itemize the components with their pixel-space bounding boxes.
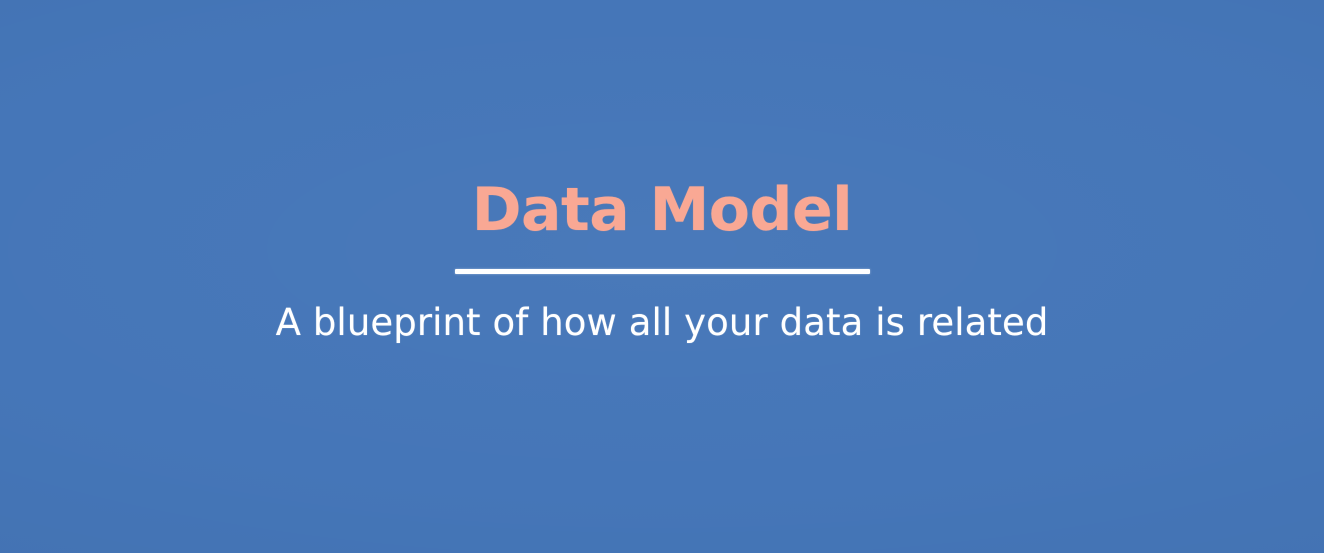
title-divider <box>455 269 870 274</box>
page-subtitle: A blueprint of how all your data is rela… <box>276 302 1049 345</box>
title-slide: Data Model A blueprint of how all your d… <box>0 0 1324 553</box>
page-title: Data Model <box>472 180 853 240</box>
slide-content: Data Model A blueprint of how all your d… <box>0 0 1324 345</box>
